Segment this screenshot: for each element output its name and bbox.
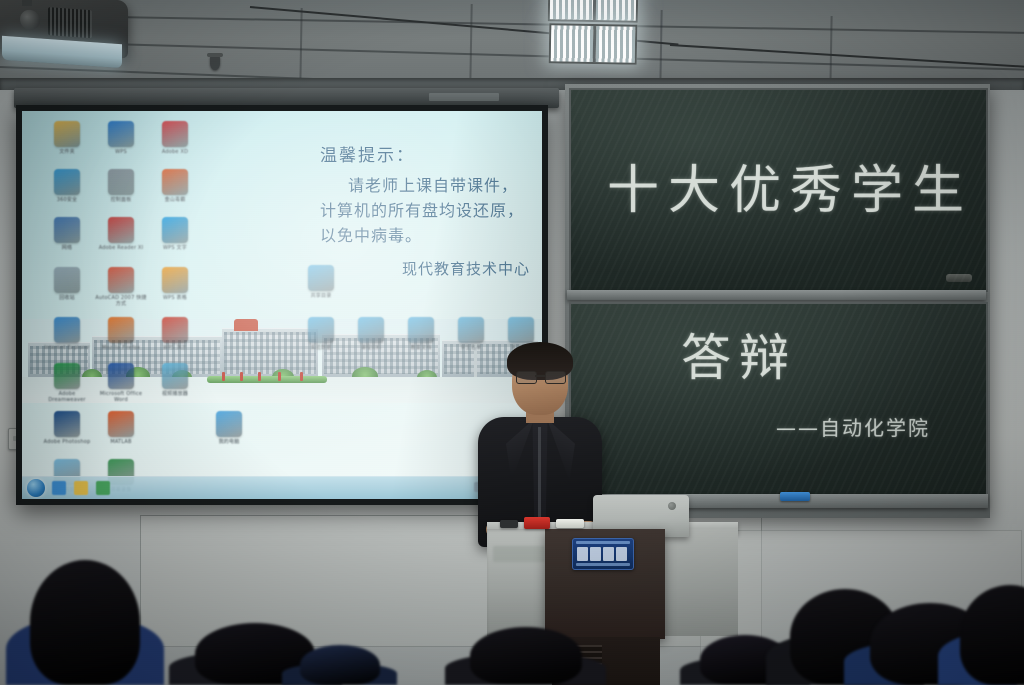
desktop-icon[interactable]: WPS 表格 <box>148 267 202 301</box>
projected-notice: 温馨提示： 请老师上课自带课件， 计算机的所有盘均设还原， 以免中病毒。 现代教… <box>320 141 530 279</box>
desktop-icon-glyph <box>308 317 334 343</box>
projection-screen-surface[interactable]: 文件夹WPSAdobe XD360安全控制面板金山毒霸网络Adobe Reade… <box>22 111 542 499</box>
notice-line-3: 以免中病毒。 <box>320 223 530 248</box>
desktop-icon[interactable]: 教案文档 <box>394 317 448 351</box>
notice-title: 温馨提示： <box>320 141 530 166</box>
desktop-icon[interactable]: 360安全 <box>40 169 94 203</box>
board-duster[interactable] <box>946 274 972 282</box>
desktop-icon[interactable]: 控制面板 <box>94 169 148 203</box>
desktop-icon-glyph <box>162 169 188 195</box>
desktop-icon-glyph <box>358 317 384 343</box>
desktop-icon-label: 实验数据 <box>294 345 348 351</box>
desktop-icon-label: WPS 表格 <box>148 295 202 301</box>
desktop-icon-glyph <box>108 267 134 293</box>
desktop-icon-label: WPS <box>94 149 148 155</box>
desktop-icon-label: Adobe Dreamweaver <box>40 391 94 403</box>
audience-member-8 <box>960 585 1024 685</box>
desktop-icon-label: 文件夹 <box>40 149 94 155</box>
desktop-icon-glyph <box>216 411 242 437</box>
podium-quiet-sticker <box>572 538 634 570</box>
chalkboard-lower-text: 答辩 <box>681 318 797 390</box>
desktop-icon-label: AutoCAD 2007 快捷方式 <box>94 295 148 307</box>
desktop-icon-glyph <box>108 217 134 243</box>
chalkboard-attribution: ——自动化学院 <box>776 412 930 441</box>
explorer-icon[interactable] <box>74 481 88 495</box>
presenter <box>470 345 610 545</box>
desktop-icon-label: 视频播放器 <box>148 391 202 397</box>
desktop-icon-label: Internet Explorer <box>40 345 94 351</box>
windows-taskbar[interactable] <box>22 476 542 499</box>
desktop-icon-label: 我的电脑 <box>202 439 256 445</box>
desktop-icon-label: 控制面板 <box>94 197 148 203</box>
desktop-icon-glyph <box>54 317 80 343</box>
desktop-icon-glyph <box>508 317 534 343</box>
chalkboard-upper-panel: 十大优秀学生 <box>569 88 988 292</box>
desktop-icon-label: 共享目录 <box>294 293 348 299</box>
desktop-icon[interactable]: Adobe Dreamweaver <box>40 363 94 403</box>
desktop-icon[interactable]: Internet Explorer <box>40 317 94 351</box>
fire-sprinkler-icon <box>210 56 220 70</box>
desktop-icon-glyph <box>108 121 134 147</box>
media-player-icon[interactable] <box>96 481 110 495</box>
desktop-icon-label: 金山毒霸 <box>148 197 202 203</box>
audience-head <box>30 560 140 685</box>
desktop-icon-glyph <box>54 121 80 147</box>
desktop-icon[interactable]: 文件夹 <box>40 121 94 155</box>
podium-right-cabinet <box>664 529 738 636</box>
desktop-icon-glyph <box>162 121 188 147</box>
audience-head <box>470 627 582 685</box>
chalkboard-middle-rail <box>567 290 986 300</box>
audience-head <box>300 645 380 685</box>
chalkboard-lower-panel: 答辩 ——自动化学院 <box>569 302 988 496</box>
chalkboard-upper-text: 十大优秀学生 <box>607 148 973 223</box>
desk-microphone[interactable] <box>500 520 518 528</box>
desk-red-box[interactable] <box>524 517 550 529</box>
desktop-icon-glyph <box>162 363 188 389</box>
desktop-icon-glyph <box>162 267 188 293</box>
audience-member-1 <box>30 560 140 685</box>
desktop-icon[interactable]: 实验数据 <box>294 317 348 351</box>
desktop-icon-label: Microsoft Office Word <box>94 391 148 403</box>
desktop-icon[interactable]: 视频播放器 <box>148 363 202 397</box>
desktop-icon-glyph <box>108 363 134 389</box>
desktop-icon-label: 网络 <box>40 245 94 251</box>
notice-line-2: 计算机的所有盘均设还原， <box>320 198 530 223</box>
desktop-icon[interactable]: Mozilla Firefox <box>94 317 148 351</box>
audience-head <box>960 585 1024 685</box>
desktop-icon[interactable]: 金山毒霸 <box>148 169 202 203</box>
desktop-icon[interactable]: Microsoft Office Word <box>94 363 148 403</box>
desktop-icon[interactable]: Adobe Reader XI <box>94 217 148 251</box>
desktop-icon-glyph <box>108 411 134 437</box>
ie-icon[interactable] <box>52 481 66 495</box>
desktop-icon-glyph <box>54 169 80 195</box>
desktop-icon-glyph <box>54 217 80 243</box>
start-orb-icon[interactable] <box>27 479 45 497</box>
desktop-icon[interactable]: WPS 演示 <box>148 317 202 351</box>
desktop-icon-glyph <box>108 317 134 343</box>
desktop-icon-label: 教案文档 <box>394 345 448 351</box>
desktop-icon-glyph <box>108 169 134 195</box>
desktop-icon[interactable]: WPS 文字 <box>148 217 202 251</box>
desktop-icon-label: 360安全 <box>40 197 94 203</box>
desktop-icon-glyph <box>162 217 188 243</box>
desktop-icon-glyph <box>54 411 80 437</box>
desktop-icon[interactable]: Adobe XD <box>148 121 202 155</box>
glasses-icon <box>516 371 564 382</box>
desktop-icon[interactable]: MATLAB <box>94 411 148 445</box>
desktop-icon-label: Adobe Reader XI <box>94 245 148 251</box>
desk-papers[interactable] <box>556 519 584 528</box>
classroom-photo: 十大优秀学生 答辩 ——自动化学院 <box>0 0 1024 685</box>
desktop-icon-glyph <box>54 267 80 293</box>
desktop-icon[interactable]: 回收站 <box>40 267 94 301</box>
desktop-icon-label: WPS 演示 <box>148 345 202 351</box>
desktop-icon-glyph <box>54 363 80 389</box>
desktop-icon-glyph <box>408 317 434 343</box>
desktop-icon-label: Adobe XD <box>148 149 202 155</box>
desktop-icon-label: Adobe Photoshop <box>40 439 94 445</box>
desktop-icon[interactable]: Adobe Photoshop <box>40 411 94 445</box>
desktop-icon[interactable]: 网络 <box>40 217 94 251</box>
desktop-icon[interactable]: WPS <box>94 121 148 155</box>
chalkboard: 十大优秀学生 答辩 ——自动化学院 <box>565 84 990 518</box>
blue-chalk-eraser[interactable] <box>780 492 810 501</box>
desktop-icon-glyph <box>458 317 484 343</box>
desktop-icon[interactable]: 我的电脑 <box>202 411 256 445</box>
notice-line-1: 请老师上课自带课件， <box>320 173 530 198</box>
desktop-icon-label: Mozilla Firefox <box>94 345 148 351</box>
desktop-icon-label: 课程资料 <box>344 345 398 351</box>
desktop-icon[interactable]: AutoCAD 2007 快捷方式 <box>94 267 148 307</box>
desktop-icon-label: MATLAB <box>94 439 148 445</box>
ceiling-light-panel-top <box>548 0 639 23</box>
audience-member-3 <box>300 645 380 685</box>
notice-signature: 现代教育技术中心 <box>320 258 530 279</box>
ceiling-light-panel-main <box>549 23 638 65</box>
projector-mount <box>22 0 32 6</box>
desktop-icon-label: WPS 文字 <box>148 245 202 251</box>
desktop-icon-label: 回收站 <box>40 295 94 301</box>
desktop-icon[interactable]: 课程资料 <box>344 317 398 351</box>
audience-member-4 <box>470 627 582 685</box>
screen-brand-logo <box>429 93 499 101</box>
desktop-icon-glyph <box>162 317 188 343</box>
